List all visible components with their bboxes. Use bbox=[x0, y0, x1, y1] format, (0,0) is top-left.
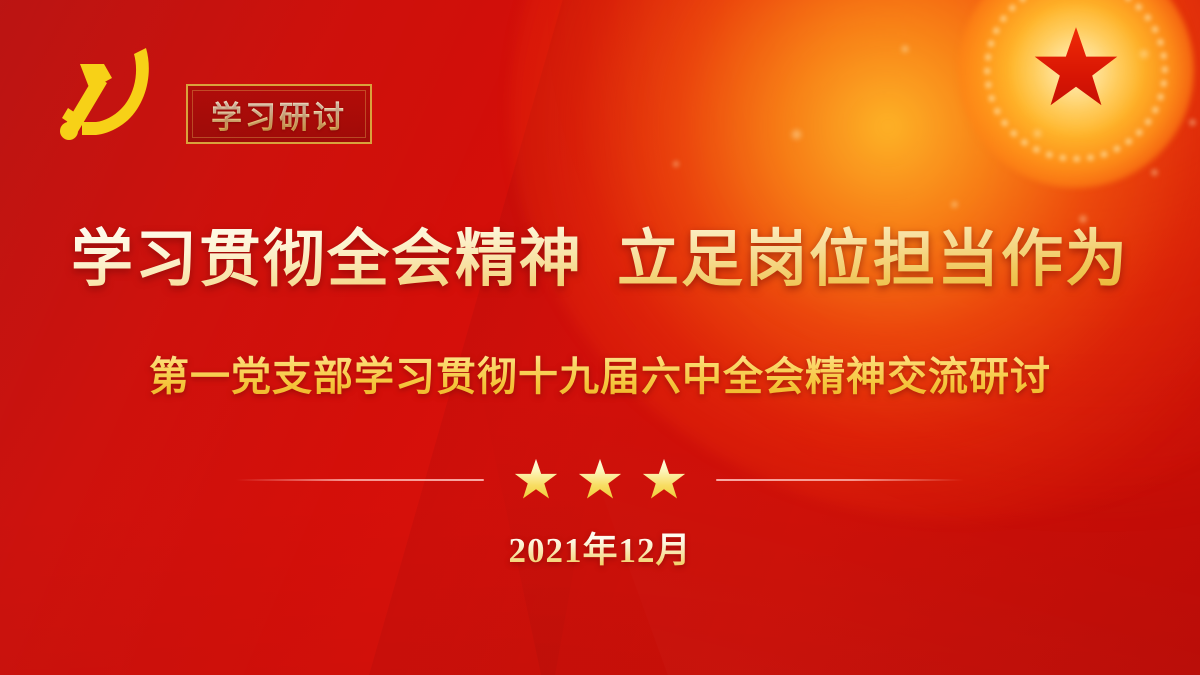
divider-line-left bbox=[236, 479, 484, 481]
slide-content: 学习研讨 学习贯彻全会精神立足岗位担当作为 第一党支部学习贯彻十九届六中全会精神… bbox=[0, 0, 1200, 675]
divider-with-stars bbox=[0, 452, 1200, 508]
five-pointed-star-icon bbox=[642, 458, 686, 502]
page-title: 学习贯彻全会精神立足岗位担当作为 bbox=[0, 226, 1200, 294]
presentation-title-slide: 学习研讨 学习贯彻全会精神立足岗位担当作为 第一党支部学习贯彻十九届六中全会精神… bbox=[0, 0, 1200, 675]
star-group bbox=[506, 458, 694, 502]
title-part-2: 立足岗位担当作为 bbox=[617, 226, 1129, 294]
page-subtitle: 第一党支部学习贯彻十九届六中全会精神交流研讨 bbox=[0, 344, 1200, 402]
five-pointed-star-icon bbox=[514, 458, 558, 502]
study-discussion-badge: 学习研讨 bbox=[186, 84, 372, 144]
hammer-and-sickle-icon bbox=[50, 42, 166, 152]
five-pointed-star-icon bbox=[578, 458, 622, 502]
date-label: 2021年12月 bbox=[0, 522, 1200, 573]
title-part-1: 学习贯彻全会精神 bbox=[71, 226, 583, 294]
badge-label: 学习研讨 bbox=[211, 92, 347, 137]
divider-line-right bbox=[716, 479, 964, 481]
